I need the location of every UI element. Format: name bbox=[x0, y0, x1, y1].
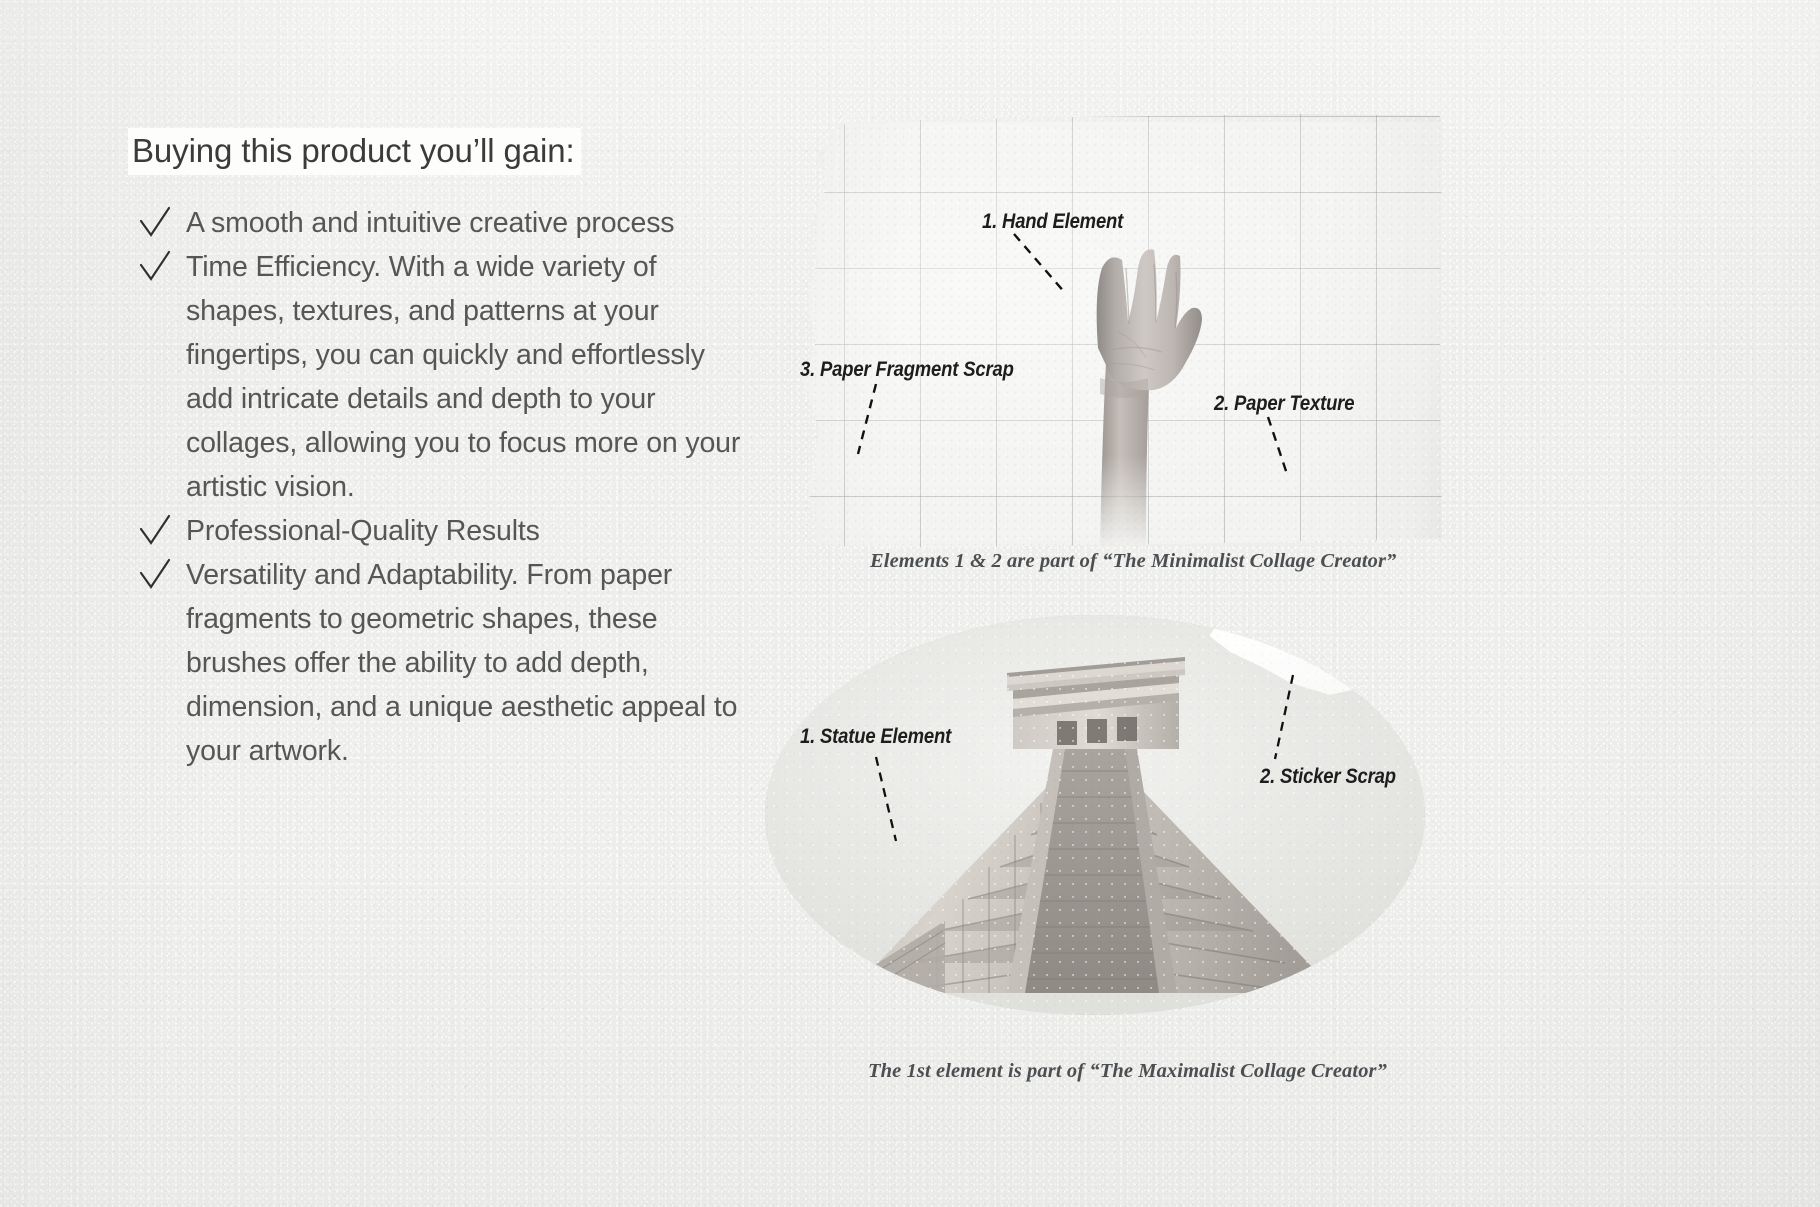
callout-paper-texture: 2. Paper Texture bbox=[1214, 392, 1354, 416]
page-title: Buying this product you’ll gain: bbox=[128, 128, 581, 175]
list-item: Professional-Quality Results bbox=[128, 509, 753, 553]
figure-caption-maximalist: The 1st element is part of “The Maximali… bbox=[868, 1060, 1387, 1083]
figures-panel: 1. Hand Element 3. Paper Fragment Scrap … bbox=[760, 0, 1820, 1207]
benefits-panel: Buying this product you’ll gain: A smoot… bbox=[128, 128, 753, 773]
list-item-label: A smooth and intuitive creative process bbox=[186, 207, 674, 239]
leader-line-hand-element bbox=[1012, 232, 1082, 302]
list-item-label: Versatility and Adaptability. From paper… bbox=[186, 559, 737, 767]
check-icon bbox=[138, 203, 172, 243]
leader-line-paper-fragment-scrap bbox=[854, 382, 894, 462]
check-icon bbox=[138, 555, 172, 595]
list-item: A smooth and intuitive creative process bbox=[128, 201, 753, 245]
list-item-label: Professional-Quality Results bbox=[186, 515, 540, 547]
pyramid-oval-figure: 1. Statue Element 2. Sticker Scrap bbox=[765, 615, 1425, 1015]
leader-line-paper-texture bbox=[1262, 415, 1302, 485]
list-item: Time Efficiency. With a wide variety of … bbox=[128, 245, 753, 509]
callout-statue-element: 1. Statue Element bbox=[800, 725, 951, 749]
leader-line-statue-element bbox=[870, 755, 910, 850]
oval-photo-frame bbox=[765, 615, 1425, 1015]
leader-line-sticker-scrap bbox=[1265, 673, 1305, 768]
check-icon bbox=[138, 247, 172, 287]
list-item-label: Time Efficiency. With a wide variety of … bbox=[186, 251, 740, 503]
torn-paper-scrap bbox=[782, 110, 1445, 550]
check-icon bbox=[138, 511, 172, 551]
callout-paper-fragment-scrap: 3. Paper Fragment Scrap bbox=[800, 358, 1014, 382]
benefits-list: A smooth and intuitive creative process … bbox=[128, 201, 753, 773]
callout-hand-element: 1. Hand Element bbox=[982, 210, 1123, 234]
list-item: Versatility and Adaptability. From paper… bbox=[128, 553, 753, 773]
callout-sticker-scrap: 2. Sticker Scrap bbox=[1260, 765, 1396, 789]
grid-paper-scrap-figure: 1. Hand Element 3. Paper Fragment Scrap … bbox=[782, 110, 1445, 550]
figure-caption-minimalist: Elements 1 & 2 are part of “The Minimali… bbox=[870, 550, 1396, 573]
